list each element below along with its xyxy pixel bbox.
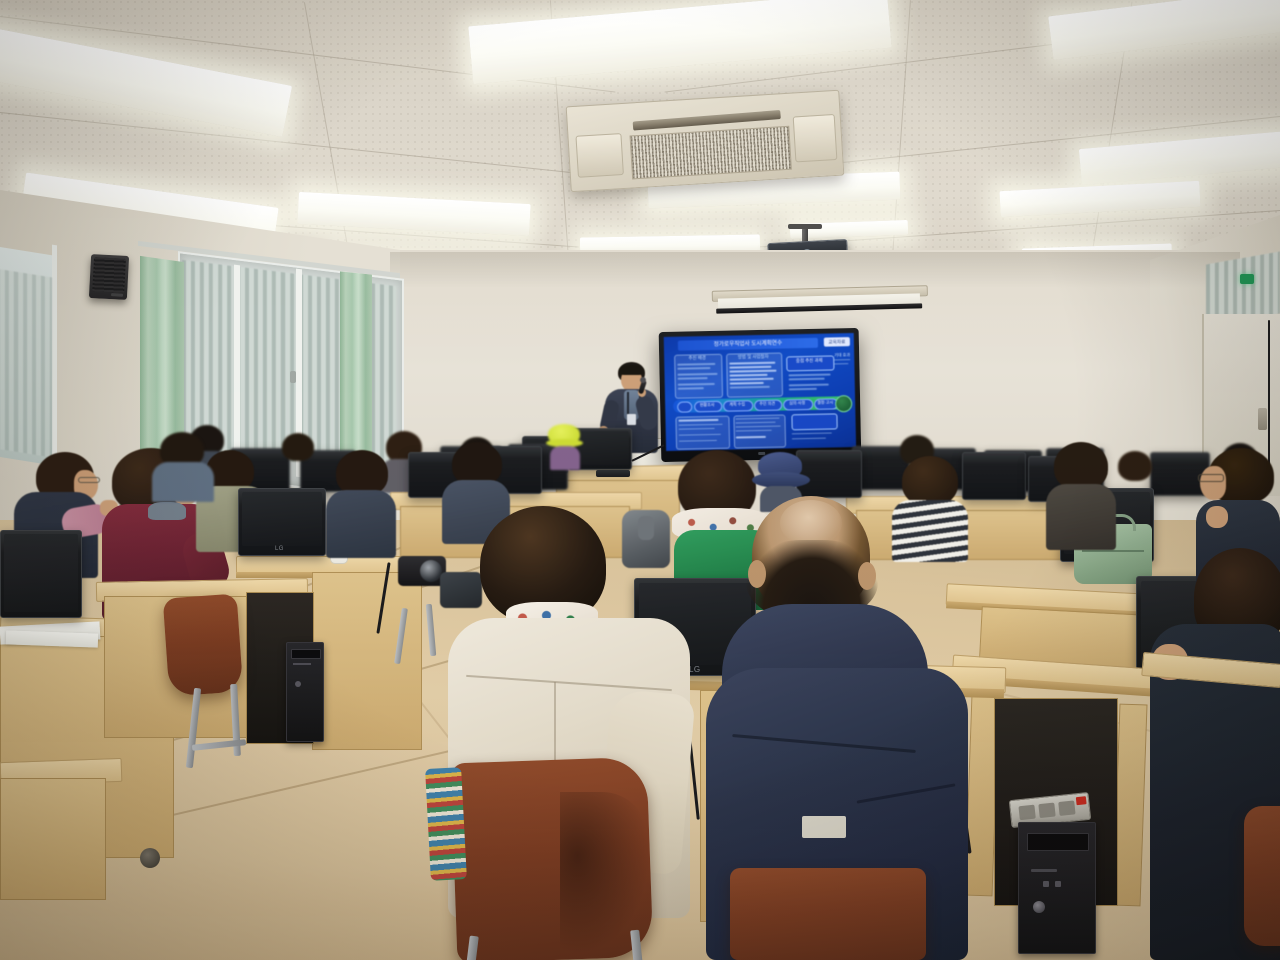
flow-end-node: [835, 395, 852, 412]
wall-speaker: [89, 254, 129, 300]
optical-drive[interactable]: [1027, 833, 1089, 851]
slide-title-text: 정가로우직업사 도시계획연수: [680, 338, 816, 350]
audience-person-right-coat: [1140, 548, 1280, 960]
slide-highlight-text: 중점 추진 과제: [786, 357, 832, 364]
pc-tower: [1018, 822, 1096, 954]
audience-person: [152, 432, 222, 502]
flow-step-label: 계획 수립: [723, 401, 751, 408]
audience-head: [282, 433, 314, 461]
flow-step-label: 주민 의견: [754, 401, 780, 408]
window-handle[interactable]: [290, 371, 296, 383]
flow-step-label: 결정·고시: [814, 399, 836, 405]
audience-top: [152, 462, 214, 502]
monitor: LG: [238, 488, 326, 556]
woven-bag: [425, 767, 467, 881]
audience-person: [1046, 442, 1126, 552]
audience-top: [326, 490, 396, 558]
pc-tower: [286, 642, 324, 742]
audience-ear: [748, 560, 766, 588]
power-button[interactable]: [1033, 901, 1045, 913]
chair[interactable]: [1244, 806, 1280, 946]
chair-label-sticker: [802, 816, 846, 838]
audience-face: [1200, 466, 1226, 500]
eyeglasses: [1198, 474, 1224, 482]
projector-ceiling-plate: [788, 224, 822, 229]
ac-vent-right: [793, 114, 838, 162]
audience-person-navy-hood: [706, 492, 1006, 960]
slide-column-heading: 방법 및 사업철차: [727, 354, 779, 361]
ac-vent-left: [575, 133, 623, 178]
desk-side-panel: [0, 778, 106, 900]
audience-hand: [1206, 506, 1228, 528]
flow-step-label: 심의·사정: [783, 400, 811, 407]
slide-column-heading: 기대 효과: [832, 352, 852, 358]
desk-front-panel: [312, 572, 422, 750]
audience-yellow-hat: [546, 424, 584, 470]
camera-lens: [420, 560, 442, 582]
slide-column-heading: 추진 배경: [675, 355, 719, 362]
audience-body: [550, 446, 580, 470]
air-conditioner-unit: [566, 90, 843, 192]
audience-person-cream: [448, 506, 718, 960]
audience-person: [326, 450, 406, 560]
chair[interactable]: [163, 594, 244, 697]
flow-step: [677, 401, 692, 412]
camera-on-desk: [398, 556, 446, 586]
classroom-photo: 정가로우직업사 도시계획연수 교육자료 추진 배경 방법 및 사업철차 중점 추…: [0, 0, 1280, 960]
desk-caster: [140, 848, 160, 868]
exit-sign-icon: [1240, 274, 1254, 284]
chair-shadow: [560, 792, 648, 952]
slide-badge-text: 교육자료: [824, 338, 850, 347]
audience-hair: [1054, 442, 1108, 490]
microphone-head: [640, 377, 646, 383]
wall-top-shadow: [390, 252, 1240, 288]
power-strip-switch[interactable]: [1076, 796, 1087, 805]
flow-step-label: 현황조사: [694, 402, 720, 409]
presenter-hair-fringe: [619, 365, 644, 375]
audience-collar: [148, 502, 186, 520]
audience-ear: [858, 562, 876, 590]
chair[interactable]: [730, 868, 926, 960]
monitor: [0, 530, 82, 618]
audience-top: [1046, 484, 1116, 550]
monitor-brand-label: LG: [275, 546, 284, 552]
eyeglasses: [78, 477, 100, 483]
